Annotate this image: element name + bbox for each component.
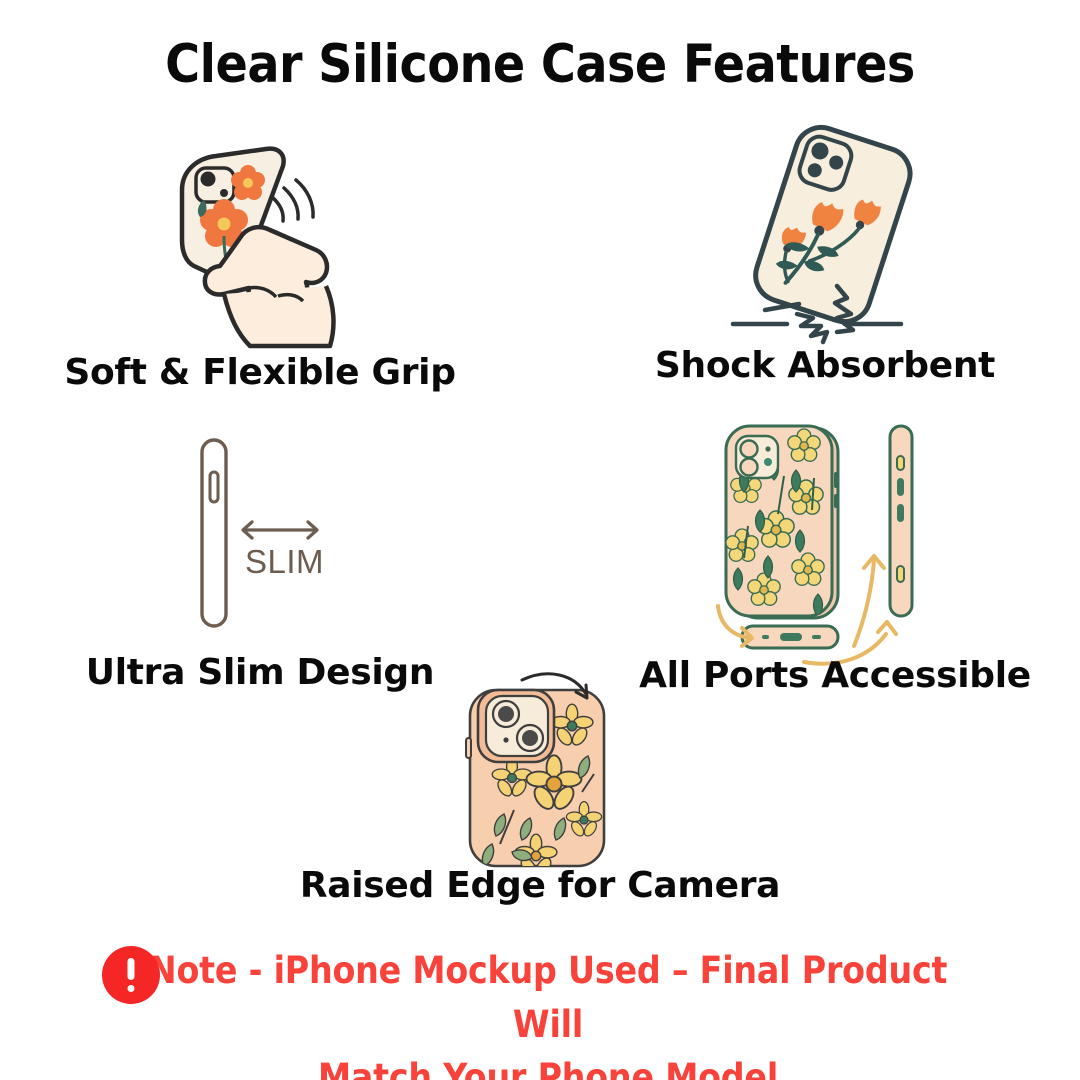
feature-label-raised-edge-for-camera: Raised Edge for Camera — [265, 865, 815, 906]
page-title: Clear Silicone Case Features — [0, 34, 1080, 95]
slim-caption: SLIM — [245, 543, 324, 581]
soft-flexible-grip-illustration — [120, 118, 390, 348]
phone-side-profile-icon — [202, 440, 226, 626]
width-arrow-icon — [243, 522, 317, 538]
feature-label-ultra-slim-design: Ultra Slim Design — [35, 652, 485, 693]
phone-bottom-edge-ports-icon — [742, 626, 838, 648]
note-line-1: Note - iPhone Mockup Used – Final Produc… — [149, 949, 947, 1046]
note-banner: Note - iPhone Mockup Used – Final Produc… — [0, 944, 1080, 1080]
shock-absorbent-illustration — [725, 118, 950, 348]
note-line-2: Match Your Phone Model — [118, 1051, 978, 1080]
note-text: Note - iPhone Mockup Used – Final Produc… — [118, 944, 978, 1080]
tilted-phone-icon — [749, 121, 917, 329]
raised-edge-for-camera-illustration — [452, 668, 642, 863]
phone-side-profile-ports-icon — [890, 426, 912, 616]
feature-label-shock-absorbent: Shock Absorbent — [605, 345, 1045, 386]
feature-label-all-ports-accessible: All Ports Accessible — [610, 655, 1060, 696]
all-ports-accessible-illustration — [708, 418, 948, 663]
feature-infographic-page: Clear Silicone Case Features — [0, 0, 1080, 1080]
feature-label-soft-flexible-grip: Soft & Flexible Grip — [40, 352, 480, 393]
raised-camera-bump-icon — [478, 690, 554, 762]
phone-back-with-flowers-icon — [726, 426, 838, 618]
ultra-slim-design-illustration — [188, 428, 378, 638]
motion-lines-icon — [272, 180, 313, 221]
exclamation-circle-icon — [102, 946, 160, 1004]
